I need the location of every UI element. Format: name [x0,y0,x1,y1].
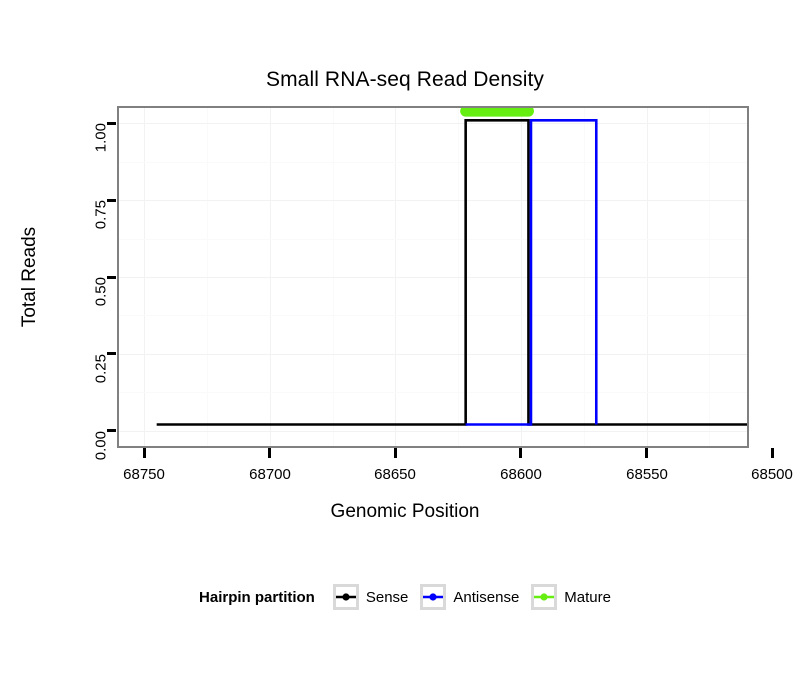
legend-key-antisense [420,584,446,610]
x-tick-label: 68650 [374,466,416,483]
x-axis-title: Genomic Position [0,501,810,523]
legend-point-line-icon [534,587,554,607]
x-tick-mark [143,448,146,458]
legend-key-sense [333,584,359,610]
x-tick-label: 68500 [751,466,793,483]
y-tick-label: 1.00 [93,123,110,152]
plot-panel-inner [119,108,747,446]
x-tick-mark [268,448,271,458]
x-tick-mark [519,448,522,458]
legend-key-mature [531,584,557,610]
legend-entry-mature[interactable]: Mature [531,584,611,610]
y-tick-label: 0.25 [93,354,110,383]
legend-label: Mature [564,589,611,606]
y-tick-label: 0.50 [93,277,110,306]
series-layer [119,108,747,446]
legend-label: Sense [366,589,409,606]
series-line-antisense [466,120,597,424]
legend-label: Antisense [453,589,519,606]
x-tick-label: 68550 [626,466,668,483]
x-tick-mark [771,448,774,458]
x-tick-label: 68600 [500,466,542,483]
chart-root: Small RNA-seq Read Density Total Reads G… [0,0,810,690]
legend-point-line-icon [423,587,443,607]
chart-legend: Hairpin partition SenseAntisenseMature [0,584,810,610]
series-line-sense [157,120,747,424]
legend-point-line-icon [336,587,356,607]
x-tick-mark [394,448,397,458]
y-tick-label: 0.00 [93,431,110,460]
legend-entry-sense[interactable]: Sense [333,584,409,610]
x-tick-mark [645,448,648,458]
y-tick-label: 0.75 [93,200,110,229]
legend-entry-antisense[interactable]: Antisense [420,584,519,610]
plot-panel [117,106,749,448]
legend-title: Hairpin partition [199,589,315,606]
x-tick-label: 68700 [249,466,291,483]
y-axis-title: Total Reads [19,227,41,327]
chart-title: Small RNA-seq Read Density [0,68,810,92]
x-tick-label: 68750 [123,466,165,483]
